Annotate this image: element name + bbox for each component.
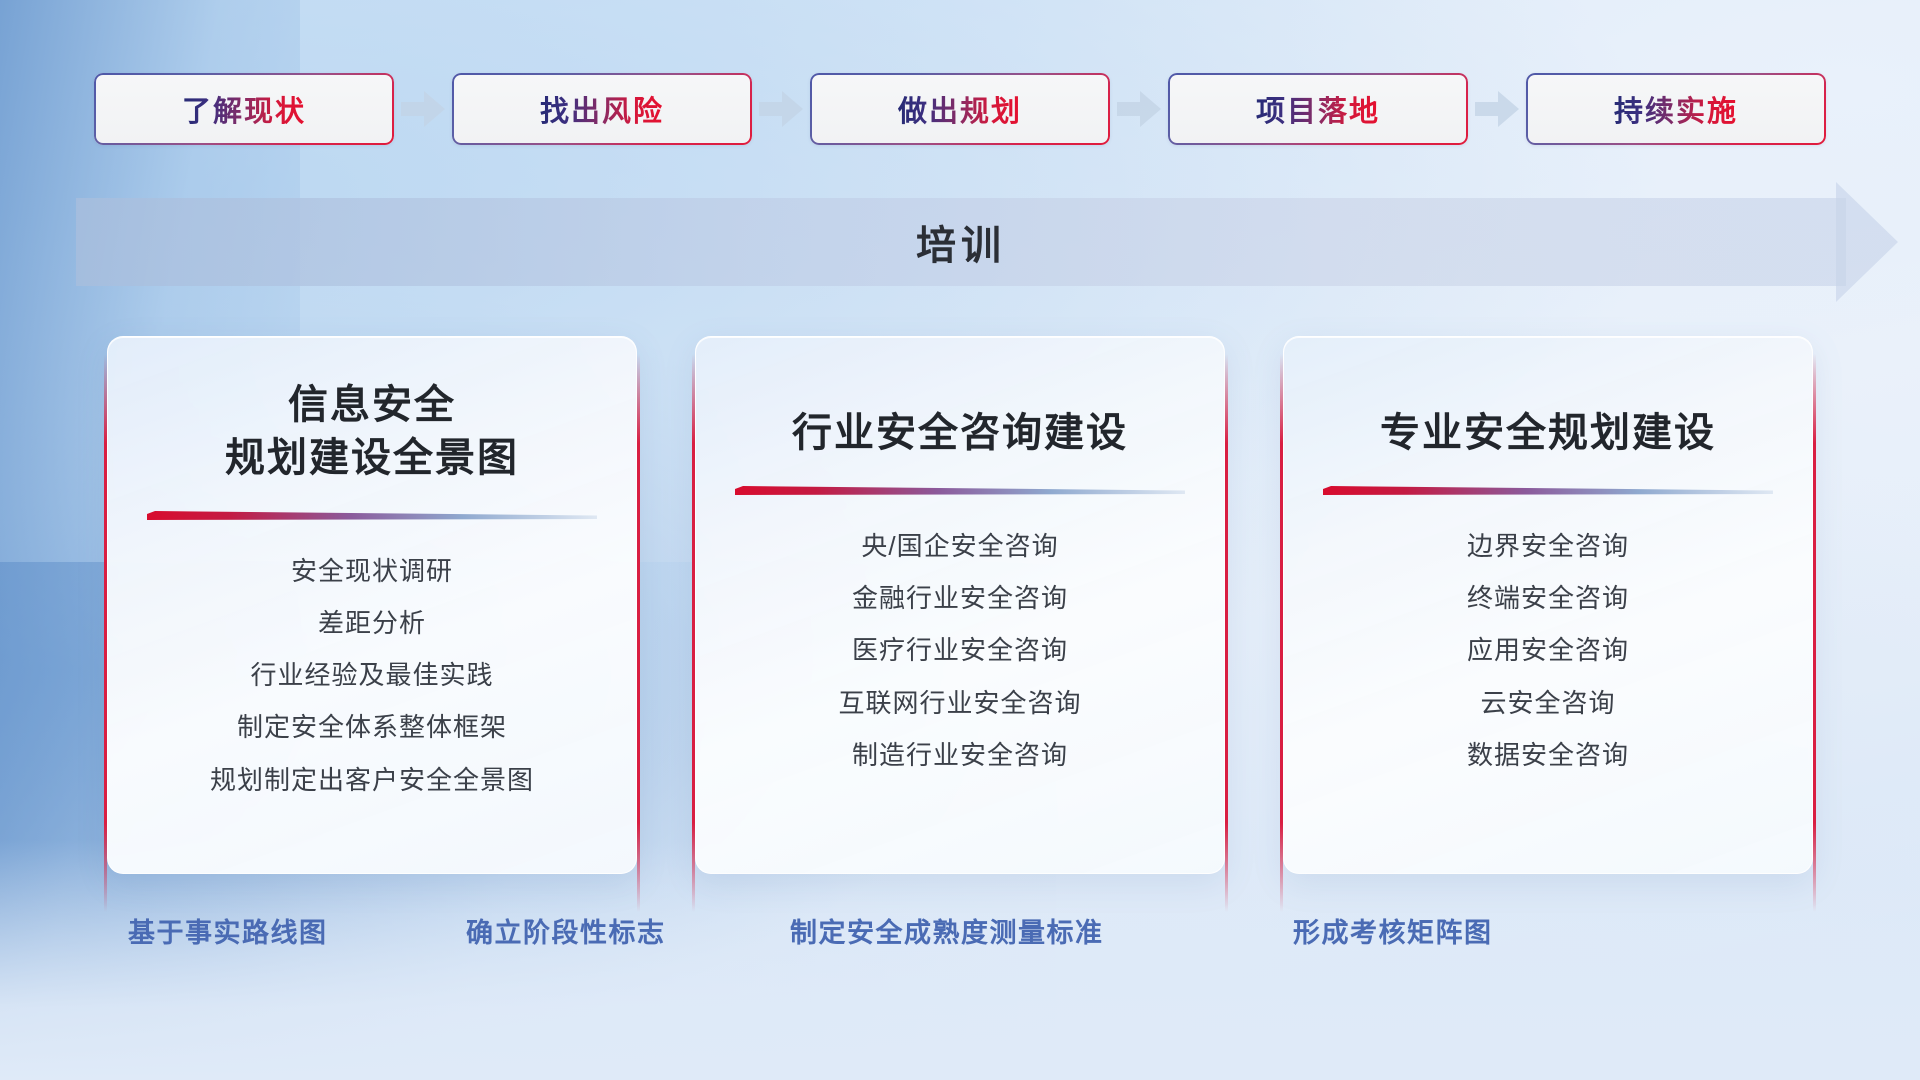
service-card-group: 信息安全 规划建设全景图安全现状调研差距分析行业经验及最佳实践制定安全体系整体框… (0, 336, 1920, 896)
service-card-wrapper: 信息安全 规划建设全景图安全现状调研差距分析行业经验及最佳实践制定安全体系整体框… (107, 336, 637, 896)
step-arrow-right-icon (752, 73, 810, 145)
footer-label-row: 基于事实路线图确立阶段性标志制定安全成熟度测量标准形成考核矩阵图 (0, 910, 1920, 970)
card-divider (1323, 486, 1773, 500)
service-card-wrapper: 专业安全规划建设边界安全咨询终端安全咨询应用安全咨询云安全咨询数据安全咨询 (1283, 336, 1813, 896)
card-divider (147, 511, 597, 525)
card-list-item: 互联网行业安全咨询 (838, 683, 1081, 723)
card-list-item: 行业经验及最佳实践 (250, 655, 493, 695)
footer-label-1: 基于事实路线图 (128, 910, 328, 956)
step-arrow-right-icon (394, 73, 452, 145)
service-card-3[interactable]: 专业安全规划建设边界安全咨询终端安全咨询应用安全咨询云安全咨询数据安全咨询 (1283, 336, 1813, 874)
card-list-item: 云安全咨询 (1480, 683, 1615, 723)
step-arrow-right-icon (1468, 73, 1526, 145)
card-list-item: 数据安全咨询 (1467, 735, 1629, 775)
card-divider (735, 486, 1185, 500)
training-banner: 培训 (76, 198, 1920, 286)
card-item-list: 安全现状调研差距分析行业经验及最佳实践制定安全体系整体框架规划制定出客户安全全景… (108, 551, 636, 800)
service-card-wrapper: 行业安全咨询建设央/国企安全咨询金融行业安全咨询医疗行业安全咨询互联网行业安全咨… (695, 336, 1225, 896)
service-card-2[interactable]: 行业安全咨询建设央/国企安全咨询金融行业安全咨询医疗行业安全咨询互联网行业安全咨… (695, 336, 1225, 874)
card-item-list: 央/国企安全咨询金融行业安全咨询医疗行业安全咨询互联网行业安全咨询制造行业安全咨… (696, 526, 1224, 775)
card-list-item: 差距分析 (318, 603, 426, 643)
step-label: 项目落地 (1256, 88, 1380, 130)
training-banner-title: 培训 (76, 198, 1846, 286)
card-title: 行业安全咨询建设 (696, 407, 1224, 460)
card-accent-line-right (637, 354, 640, 912)
footer-label-4: 形成考核矩阵图 (1293, 910, 1493, 956)
step-4[interactable]: 项目落地 (1168, 73, 1468, 145)
step-3[interactable]: 做出规划 (810, 73, 1110, 145)
card-list-item: 边界安全咨询 (1467, 526, 1629, 566)
card-list-item: 制造行业安全咨询 (852, 735, 1068, 775)
card-accent-line-right (1813, 354, 1816, 912)
card-list-item: 终端安全咨询 (1467, 578, 1629, 618)
footer-label-2: 确立阶段性标志 (466, 910, 666, 956)
card-list-item: 规划制定出客户安全全景图 (210, 760, 534, 800)
card-list-item: 央/国企安全咨询 (861, 526, 1058, 566)
service-card-1[interactable]: 信息安全 规划建设全景图安全现状调研差距分析行业经验及最佳实践制定安全体系整体框… (107, 336, 637, 874)
card-list-item: 制定安全体系整体框架 (237, 707, 507, 747)
card-list-item: 安全现状调研 (291, 551, 453, 591)
footer-label-3: 制定安全成熟度测量标准 (790, 910, 1104, 956)
step-2[interactable]: 找出风险 (452, 73, 752, 145)
card-title: 专业安全规划建设 (1284, 407, 1812, 460)
step-label: 持续实施 (1614, 88, 1738, 130)
card-list-item: 医疗行业安全咨询 (852, 630, 1068, 670)
card-item-list: 边界安全咨询终端安全咨询应用安全咨询云安全咨询数据安全咨询 (1284, 526, 1812, 775)
card-list-item: 金融行业安全咨询 (852, 578, 1068, 618)
step-arrow-right-icon (1110, 73, 1168, 145)
step-label: 做出规划 (898, 88, 1022, 130)
card-list-item: 应用安全咨询 (1467, 630, 1629, 670)
step-1[interactable]: 了解现状 (94, 73, 394, 145)
card-title: 信息安全 规划建设全景图 (108, 379, 636, 485)
step-5[interactable]: 持续实施 (1526, 73, 1826, 145)
step-label: 了解现状 (182, 88, 306, 130)
process-step-row: 了解现状找出风险做出规划项目落地持续实施 (0, 72, 1920, 146)
step-label: 找出风险 (540, 88, 664, 130)
card-accent-line-right (1225, 354, 1228, 912)
